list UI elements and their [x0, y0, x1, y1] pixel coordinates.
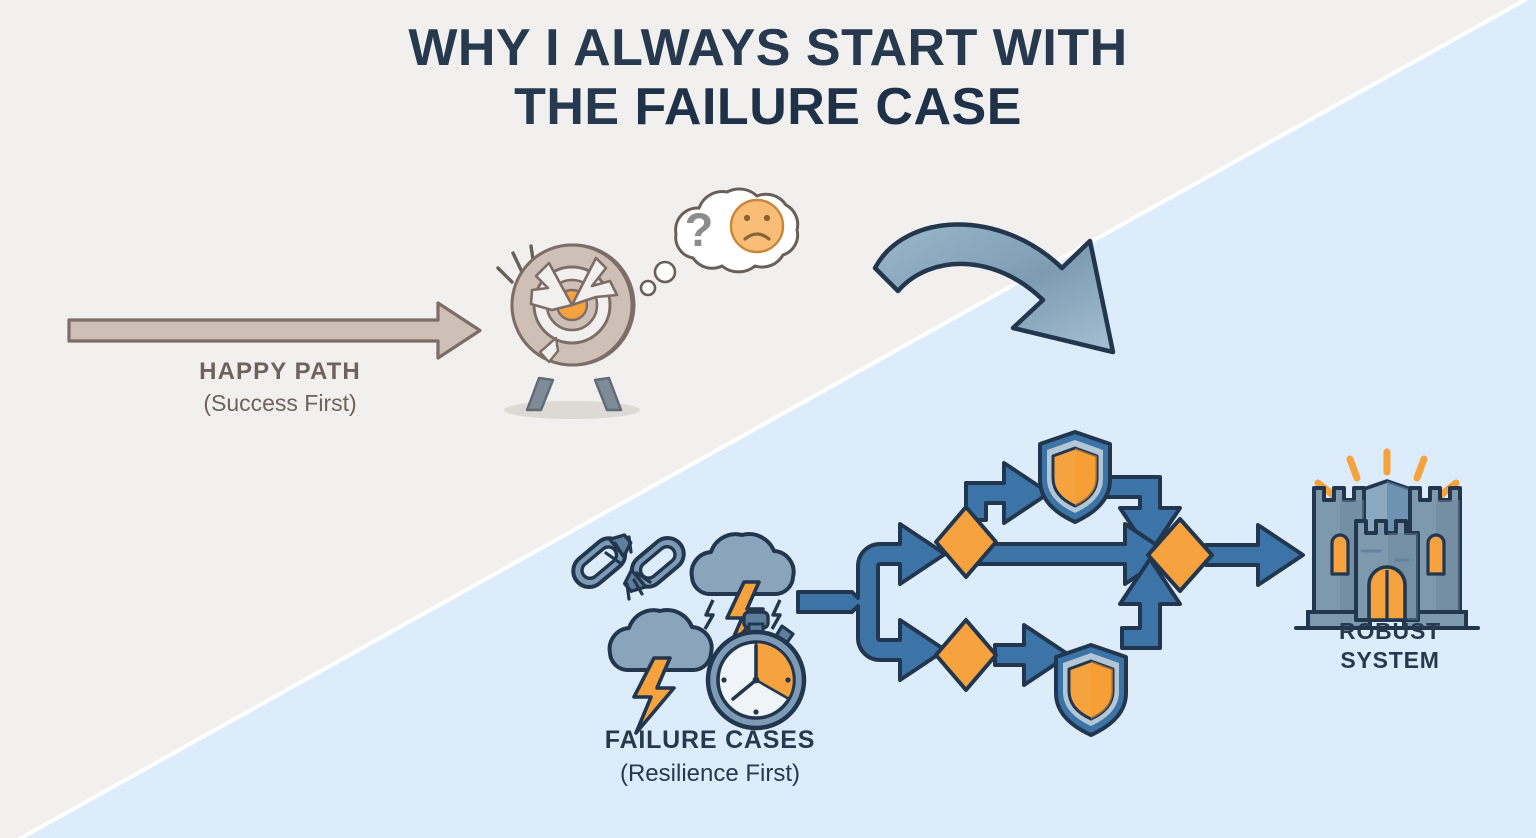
- robust-system-label-line1: ROBUST: [1270, 617, 1510, 646]
- robust-system-label-line2: SYSTEM: [1270, 646, 1510, 675]
- happy-path-sublabel: (Success First): [95, 390, 465, 417]
- page-title: WHY I ALWAYS START WITH THE FAILURE CASE: [0, 22, 1536, 134]
- title-line-1: WHY I ALWAYS START WITH: [0, 22, 1536, 75]
- robust-system-label: ROBUST SYSTEM: [1270, 617, 1510, 676]
- happy-path-label: HAPPY PATH: [95, 358, 465, 386]
- title-line-2: THE FAILURE CASE: [0, 81, 1536, 134]
- title-line-2-emphasis: FAILURE CASE: [635, 78, 1022, 136]
- failure-cases-label: FAILURE CASES: [515, 726, 905, 755]
- infographic-canvas: WHY I ALWAYS START WITH THE FAILURE CASE…: [0, 0, 1536, 838]
- title-line-2-prefix: THE: [514, 78, 634, 136]
- failure-cases-sublabel: (Resilience First): [515, 760, 905, 788]
